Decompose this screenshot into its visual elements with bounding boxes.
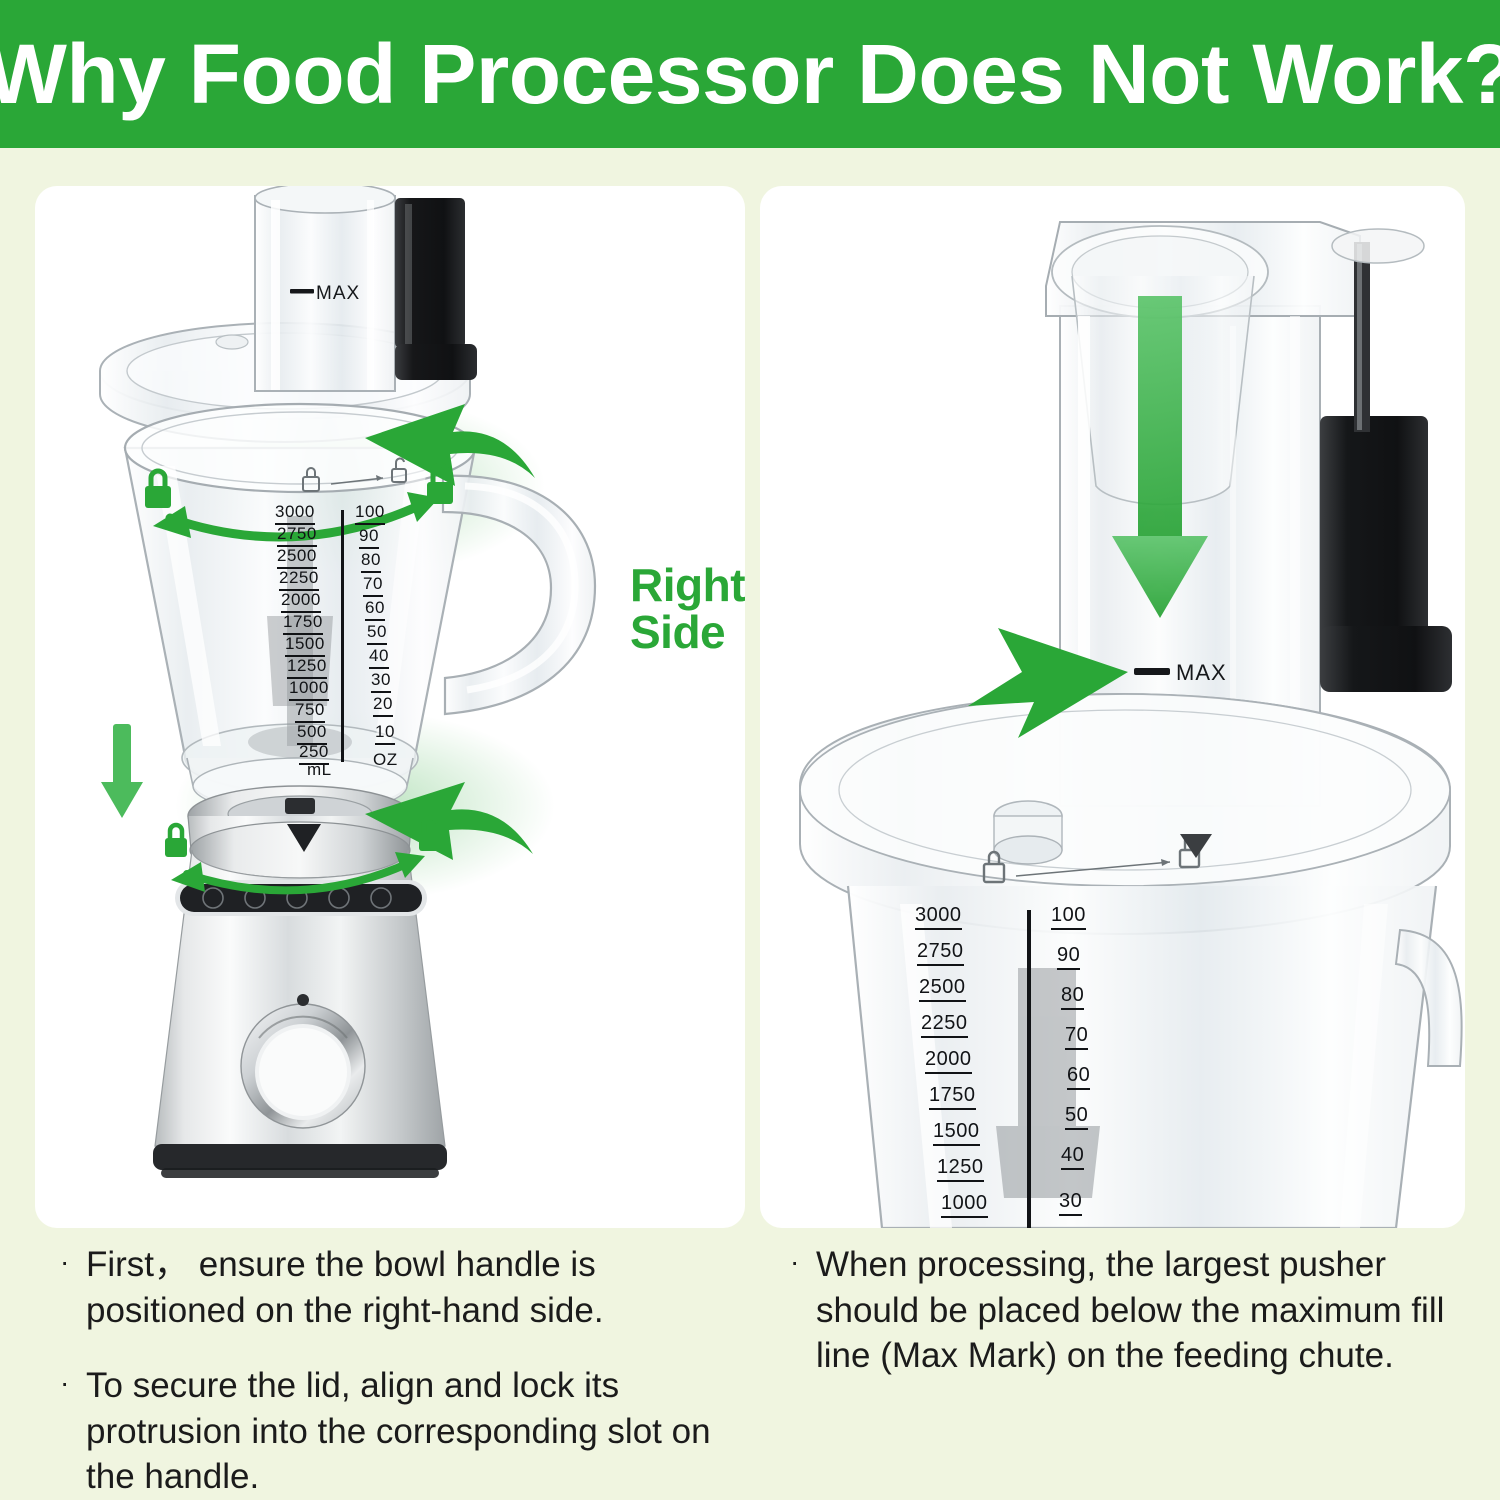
scale-ml-unit: mL [307,760,332,781]
scale-ml-tick: 1250 [937,1156,984,1182]
green-arrow-down-left [101,724,143,818]
chute-max-label-right: MAX [1176,660,1227,686]
right-side-line-2: Side [630,609,745,656]
scale-oz-tick: 70 [1065,1024,1088,1050]
caption-text: To secure the lid, align and lock its pr… [86,1363,750,1500]
chute-max-mark-right [1134,668,1170,675]
scale-spine [341,510,344,762]
scale-ml-tick: 2250 [921,1012,968,1038]
caption-column-right: · When processing, the largest pusher sh… [790,1242,1470,1409]
scale-oz-tick: 60 [365,598,385,621]
right-side-line-1: Right [630,562,745,609]
scale-ml-tick: 1750 [283,612,323,635]
panel-row: MAX 3000 2750 2500 2250 2000 1750 1500 1… [0,186,1500,1228]
scale-ml-tick: 2500 [919,976,966,1002]
panel-pusher-fill-line-diagram: MAX 3000 2750 2500 2250 2000 1750 1500 1… [760,186,1465,1228]
chute-max-mark-left: MAX [316,283,360,305]
scale-oz-tick: 10 [375,722,395,745]
scale-oz-tick: 100 [355,502,385,525]
scale-ml-tick: 1250 [287,656,327,679]
scale-ml-tick: 1000 [941,1192,988,1218]
scale-oz-tick: 50 [367,622,387,645]
bowl-measurement-scale-right: 3000 2750 2500 2250 2000 1750 1500 1250 … [915,904,1135,1224]
right-side-callout: Right Side [630,562,745,656]
header-banner: Why Food Processor Does Not Work? [0,0,1500,148]
scale-ml-tick: 2000 [925,1048,972,1074]
page-title: Why Food Processor Does Not Work? [0,26,1500,123]
scale-ml-tick: 2000 [281,590,321,613]
caption-bullet: · First， ensure the bowl handle is posit… [60,1242,750,1333]
scale-ml-tick: 1500 [933,1120,980,1146]
scale-oz-tick: 90 [1057,944,1080,970]
scale-ml-tick: 750 [295,700,325,723]
infographic-page: Why Food Processor Does Not Work? [0,0,1500,1500]
bowl-measurement-scale-left: 3000 2750 2500 2250 2000 1750 1500 1250 … [273,502,413,762]
bullet-dot-icon: · [60,1363,86,1404]
caption-bullet: · To secure the lid, align and lock its … [60,1363,750,1500]
scale-oz-tick: 80 [1061,984,1084,1010]
scale-ml-tick: 3000 [915,904,962,930]
bullet-dot-icon: · [60,1242,86,1283]
caption-text: First， ensure the bowl handle is positio… [86,1242,750,1333]
panel-assembly-diagram: MAX 3000 2750 2500 2250 2000 1750 1500 1… [35,186,745,1228]
caption-row: · First， ensure the bowl handle is posit… [0,1242,1500,1500]
scale-ml-tick: 2750 [277,524,317,547]
caption-bullet: · When processing, the largest pusher sh… [790,1242,1470,1379]
scale-oz-tick: 70 [363,574,383,597]
scale-oz-tick: 30 [371,670,391,693]
scale-oz-unit: OZ [373,750,398,771]
scale-oz-tick: 80 [361,550,381,573]
scale-oz-tick: 30 [1059,1190,1082,1216]
chute-max-mark-label-right: MAX [1176,660,1227,686]
scale-oz-tick: 90 [359,526,379,549]
scale-ml-tick: 2750 [917,940,964,966]
lid-pusher-black [395,198,477,380]
scale-ml-tick: 1000 [289,678,329,701]
scale-ml-tick: 1750 [929,1084,976,1110]
scale-oz-tick: 40 [369,646,389,669]
bullet-dot-icon: · [790,1242,816,1283]
chute-max-mark [290,289,314,294]
caption-column-left: · First， ensure the bowl handle is posit… [60,1242,750,1500]
scale-ml-tick: 2250 [279,568,319,591]
scale-oz-tick: 20 [373,694,393,717]
scale-ml-tick: 1500 [285,634,325,657]
scale-ml-tick: 2500 [277,546,317,569]
base-closed-lock-icon [165,825,187,857]
scale-ml-tick: 3000 [275,502,315,525]
scale-oz-tick: 50 [1065,1104,1088,1130]
bowl-handle [443,476,595,714]
scale-oz-tick: 100 [1051,904,1086,930]
scale-oz-tick: 40 [1061,1144,1084,1170]
caption-text: When processing, the largest pusher shou… [816,1242,1470,1379]
scale-spine-right [1027,910,1031,1228]
chute-max-label: MAX [316,283,360,305]
scale-oz-tick: 60 [1067,1064,1090,1090]
